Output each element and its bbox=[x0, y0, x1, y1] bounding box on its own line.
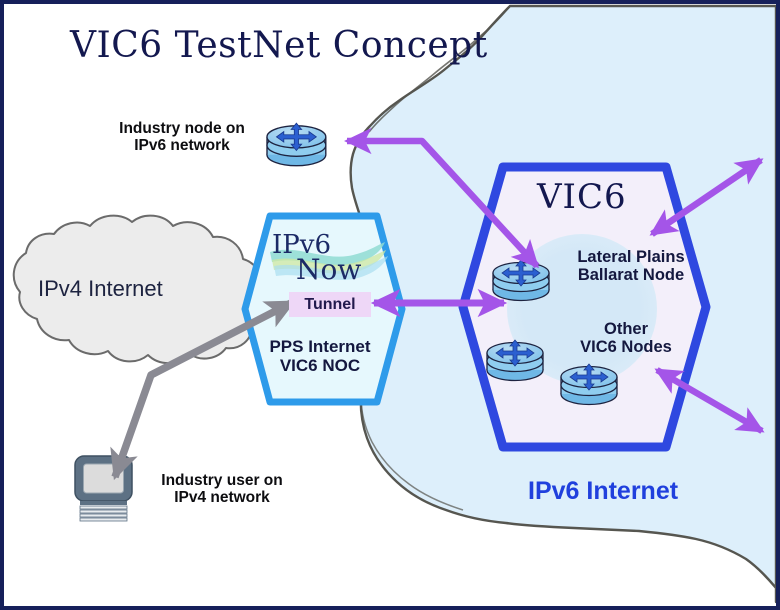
router-icon-industry-node bbox=[267, 123, 326, 166]
router-icon-other-1 bbox=[487, 340, 543, 381]
router-icon-other-2 bbox=[561, 364, 617, 405]
other-vic6-nodes-label: Other VIC6 Nodes bbox=[562, 320, 690, 357]
industry-user-label: Industry user on IPv4 network bbox=[142, 472, 302, 507]
tunnel-box[interactable]: Tunnel bbox=[289, 292, 371, 317]
ballarat-node-label: Lateral Plains Ballarat Node bbox=[560, 248, 702, 285]
workstation-icon bbox=[75, 456, 132, 521]
ipv6now-logo-line2: Now bbox=[296, 253, 361, 286]
ipv6-internet-label: IPv6 Internet bbox=[528, 477, 678, 505]
tunnel-label: Tunnel bbox=[304, 296, 355, 314]
diagram-canvas: VIC6 TestNet Concept Industry node on IP… bbox=[0, 0, 780, 610]
ipv4-internet-label: IPv4 Internet bbox=[38, 277, 163, 302]
router-icon-ballarat bbox=[493, 260, 549, 301]
diagram-graphics-layer bbox=[4, 4, 776, 606]
vic6-hexagon-title: VIC6 bbox=[537, 178, 627, 216]
noc-caption: PPS Internet VIC6 NOC bbox=[252, 337, 388, 375]
page-title: VIC6 TestNet Concept bbox=[70, 26, 488, 66]
industry-node-label: Industry node on IPv6 network bbox=[102, 120, 262, 155]
ipv6now-logo: IPv6 Now bbox=[266, 232, 384, 286]
